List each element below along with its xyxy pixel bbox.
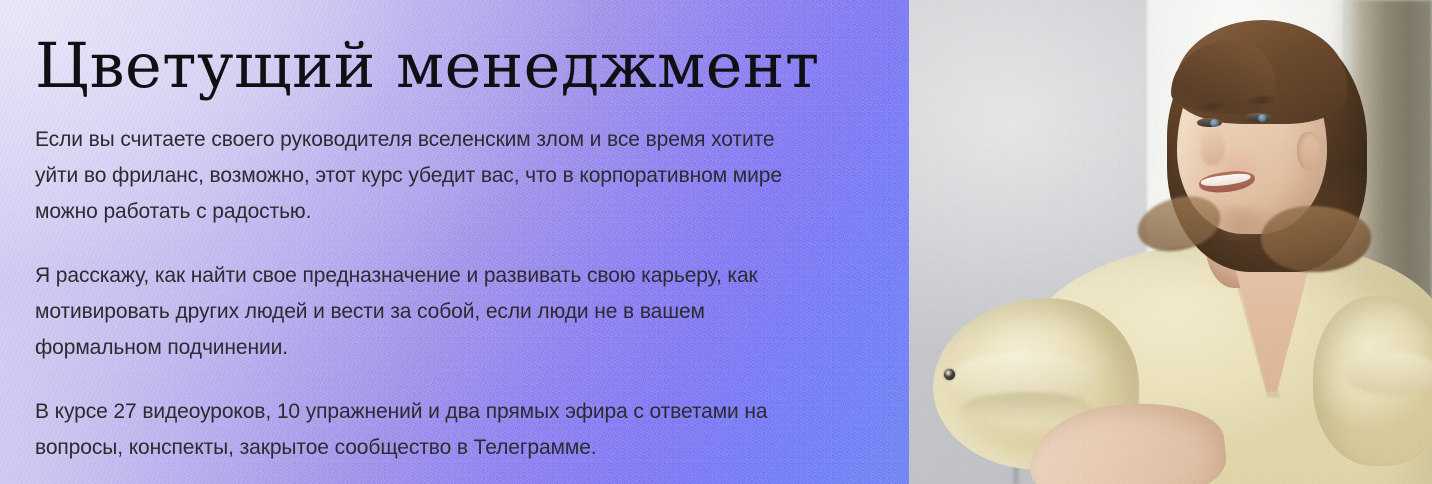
course-description: Если вы считаете своего руководителя все… [35,122,815,466]
chin-shadow [1195,206,1283,240]
sleeve-button-icon [944,369,955,380]
description-paragraph-1: Если вы считаете своего руководителя все… [35,122,815,230]
panel-content: Цветущий менеджмент Если вы считаете сво… [0,0,909,484]
course-promo-banner: Цветущий менеджмент Если вы считаете сво… [0,0,1432,484]
iris-left [1210,119,1219,127]
instructor-figure [909,0,1432,484]
page-title: Цветущий менеджмент [35,33,820,98]
instructor-photo [909,0,1432,484]
iris-right [1258,114,1267,122]
description-paragraph-2: Я расскажу, как найти свое предназначени… [35,258,815,366]
gradient-text-panel: Цветущий менеджмент Если вы считаете сво… [0,0,909,484]
description-paragraph-3: В курсе 27 видеоуроков, 10 упражнений и … [35,394,815,466]
blouse-sleeve-right-fold [1345,352,1432,396]
